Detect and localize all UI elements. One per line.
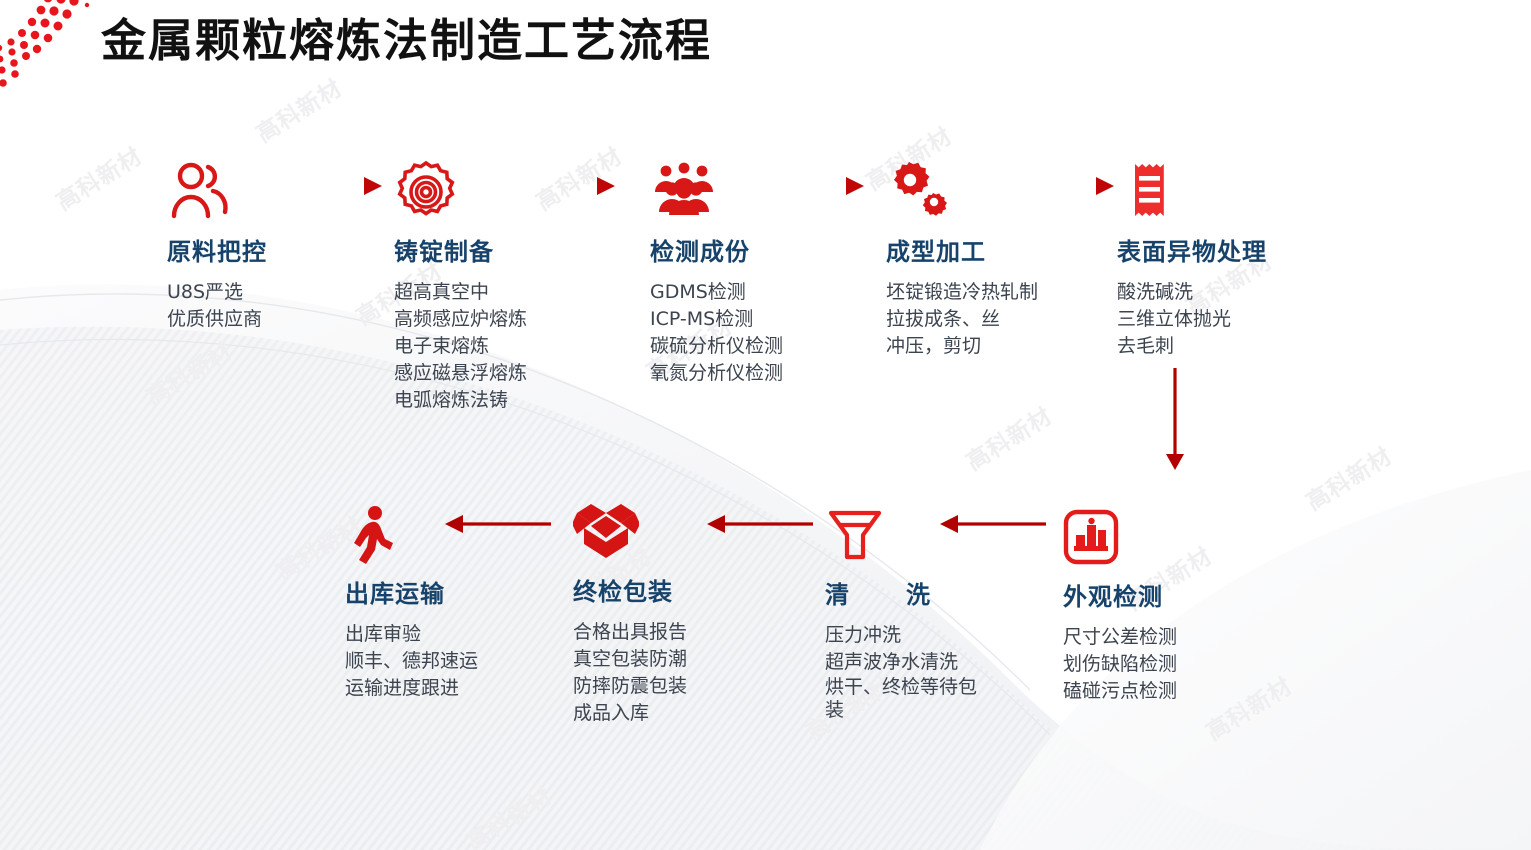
watermark: 高科新材 [1298, 437, 1397, 517]
watermark: 高科新材 [48, 137, 147, 217]
arrow-step2-to-step3 [513, 172, 617, 200]
step-line: 拉拔成条、丝 [886, 306, 1038, 333]
step-line: 合格出具报告 [573, 619, 687, 646]
step-lines: U8S严选 优质供应商 [167, 279, 267, 333]
funnel-icon [825, 503, 885, 567]
arrow-step5-to-step6 [1160, 368, 1190, 473]
step-title: 外观检测 [1063, 577, 1177, 612]
step-line: 优质供应商 [167, 306, 267, 333]
step-lines: 出库审验 顺丰、德邦速运 运输进度跟进 [345, 621, 478, 702]
step-line: 防摔防震包装 [573, 673, 687, 700]
step-line: 氧氮分析仪检测 [650, 360, 783, 387]
step-line: 出库审验 [345, 621, 478, 648]
slide-canvas: 高科新材 高科新材 高科新材 高科新材 高科新材 高科新材 高科新材 高科新材 … [0, 0, 1531, 850]
watermark: 高科新材 [1198, 667, 1297, 747]
step-line: 成品入库 [573, 700, 687, 727]
step-title: 清 洗 [825, 575, 977, 610]
step-card-8: 终检包装 合格出具报告 真空包装防潮 防摔防震包装 成品入库 [573, 500, 687, 727]
step-line: GDMS检测 [650, 279, 783, 306]
step-line: 酸洗碱洗 [1117, 279, 1267, 306]
step-title: 检测成份 [650, 232, 783, 267]
step-card-1: 原料把控 U8S严选 优质供应商 [167, 160, 267, 333]
user-group-icon [650, 160, 718, 224]
step-line: 坯锭锻造冷热轧制 [886, 279, 1038, 306]
step-lines: 压力冲洗 超声波净水清洗 烘干、终检等待包 装 [825, 622, 977, 722]
page-title: 金属颗粒熔炼法制造工艺流程 [101, 4, 712, 69]
step-line: 冲压，剪切 [886, 333, 1038, 360]
step-line: 真空包装防潮 [573, 646, 687, 673]
step-line: 超高真空中 [394, 279, 527, 306]
step-line: U8S严选 [167, 279, 267, 306]
arrow-step3-to-step4 [762, 172, 866, 200]
dot-arc-decoration-icon [0, 0, 106, 102]
step-title: 终检包装 [573, 572, 687, 607]
step-line: 去毛刺 [1117, 333, 1267, 360]
step-line: 超声波净水清洗 [825, 649, 977, 676]
step-card-6: 外观检测 尺寸公差检测 划伤缺陷检测 磕碰污点检测 [1063, 505, 1177, 705]
watermark: 高科新材 [248, 69, 347, 149]
step-title: 出库运输 [345, 574, 478, 609]
step-line: 顺丰、德邦速运 [345, 648, 478, 675]
step-line: 电子束熔炼 [394, 333, 527, 360]
arrow-step1-to-step2 [280, 172, 384, 200]
watermark: 高科新材 [958, 397, 1057, 477]
step-lines: 合格出具报告 真空包装防潮 防摔防震包装 成品入库 [573, 619, 687, 727]
step-lines: 尺寸公差检测 划伤缺陷检测 磕碰污点检测 [1063, 624, 1177, 705]
step-title: 原料把控 [167, 232, 267, 267]
step-line: 三维立体抛光 [1117, 306, 1267, 333]
watermark: 高科新材 [138, 332, 237, 412]
step-line: 运输进度跟进 [345, 675, 478, 702]
open-box-icon [573, 500, 639, 564]
two-users-icon [167, 160, 233, 224]
step-lines: 超高真空中 高频感应炉熔炼 电子束熔炼 感应磁悬浮熔炼 电弧熔炼法铸 [394, 279, 527, 414]
step-lines: 酸洗碱洗 三维立体抛光 去毛刺 [1117, 279, 1267, 360]
step-card-5: 表面异物处理 酸洗碱洗 三维立体抛光 去毛刺 [1117, 160, 1267, 360]
step-card-2: 铸锭制备 超高真空中 高频感应炉熔炼 电子束熔炼 感应磁悬浮熔炼 电弧熔炼法铸 [394, 160, 527, 414]
step-line: 磕碰污点检测 [1063, 678, 1177, 705]
factory-badge-icon [1063, 505, 1119, 569]
arrow-step4-to-step5 [1012, 172, 1116, 200]
step-card-7: 清 洗 压力冲洗 超声波净水清洗 烘干、终检等待包 装 [825, 503, 977, 722]
step-title: 成型加工 [886, 232, 1038, 267]
step-line: 划伤缺陷检测 [1063, 651, 1177, 678]
walking-person-icon [345, 502, 403, 566]
step-card-9: 出库运输 出库审验 顺丰、德邦速运 运输进度跟进 [345, 502, 478, 702]
step-lines: 坯锭锻造冷热轧制 拉拔成条、丝 冲压，剪切 [886, 279, 1038, 360]
receipt-icon [1117, 160, 1181, 224]
step-line: 压力冲洗 [825, 622, 977, 649]
background-swoosh [0, 0, 1531, 850]
arrow-step7-to-step8 [705, 510, 815, 538]
step-line: 高频感应炉熔炼 [394, 306, 527, 333]
step-line: 尺寸公差检测 [1063, 624, 1177, 651]
step-lines: GDMS检测 ICP-MS检测 碳硫分析仪检测 氧氮分析仪检测 [650, 279, 783, 387]
step-line: ICP-MS检测 [650, 306, 783, 333]
step-line: 电弧熔炼法铸 [394, 387, 527, 414]
step-line: 感应磁悬浮熔炼 [394, 360, 527, 387]
step-title: 铸锭制备 [394, 232, 527, 267]
gears-icon [886, 160, 950, 224]
step-title: 表面异物处理 [1117, 232, 1267, 267]
watermark: 高科新材 [458, 777, 557, 850]
step-line: 碳硫分析仪检测 [650, 333, 783, 360]
step-line: 烘干、终检等待包 装 [825, 676, 977, 722]
gear-target-icon [394, 160, 458, 224]
